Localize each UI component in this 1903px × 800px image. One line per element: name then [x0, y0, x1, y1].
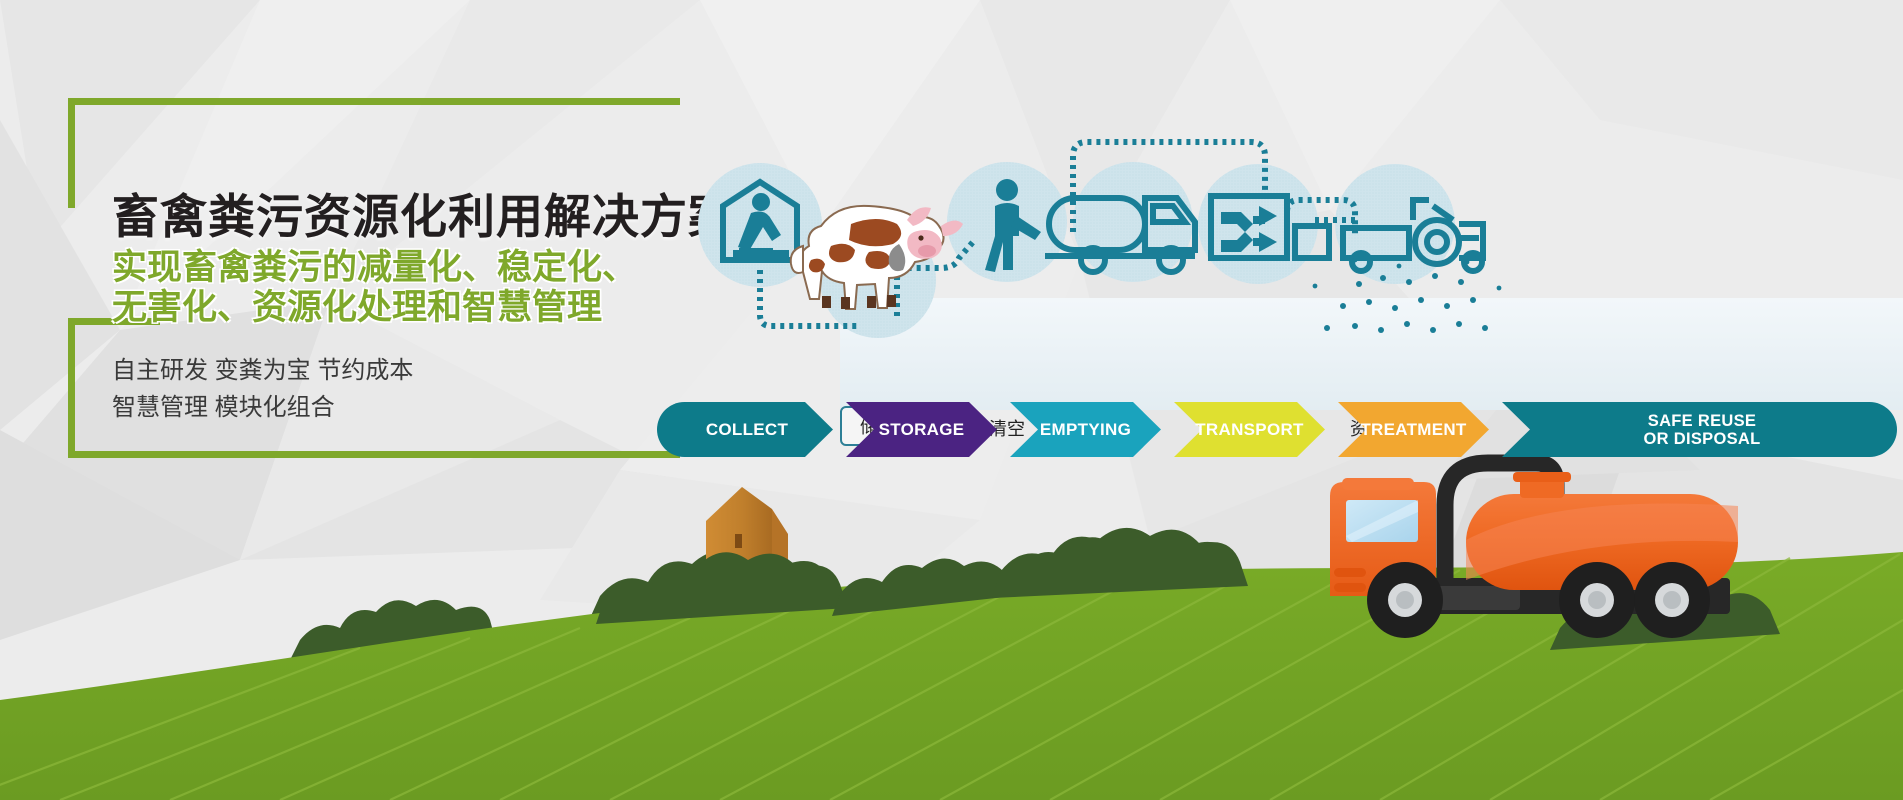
chevron-transport[interactable]	[1174, 402, 1325, 457]
chevron-storage[interactable]	[846, 402, 997, 457]
process-chevron-band: COLLECT STORAGE EMPTYING TRANSPORT TREAT…	[657, 402, 1897, 457]
process-diagram: 收集 储存 清空 运输 处理 资源再利用	[655, 120, 1903, 410]
subtitle-line-2: 无害化、资源化处理和智慧管理	[112, 288, 637, 328]
chevron-emptying[interactable]	[1010, 402, 1161, 457]
page-title: 畜禽粪污资源化利用解决方案	[112, 178, 736, 247]
diagram-panel	[840, 298, 1903, 410]
chevron-reuse[interactable]	[1502, 402, 1897, 457]
banner-root: 畜禽粪污资源化利用解决方案 实现畜禽粪污的减量化、稳定化、 无害化、资源化处理和…	[0, 0, 1903, 800]
kicker-line-2: 智慧管理 模块化组合	[112, 389, 413, 426]
chevron-collect[interactable]	[657, 402, 833, 457]
chevron-shapes	[657, 402, 1897, 457]
page-subtitle: 实现畜禽粪污的减量化、稳定化、 无害化、资源化处理和智慧管理	[112, 248, 637, 328]
process-diagram-graphics	[655, 120, 1903, 410]
kicker-line-1: 自主研发 变粪为宝 节约成本	[112, 352, 413, 389]
page-kicker: 自主研发 变粪为宝 节约成本 智慧管理 模块化组合	[112, 352, 413, 426]
chevron-treatment[interactable]	[1338, 402, 1489, 457]
subtitle-line-1: 实现畜禽粪污的减量化、稳定化、	[112, 248, 637, 288]
